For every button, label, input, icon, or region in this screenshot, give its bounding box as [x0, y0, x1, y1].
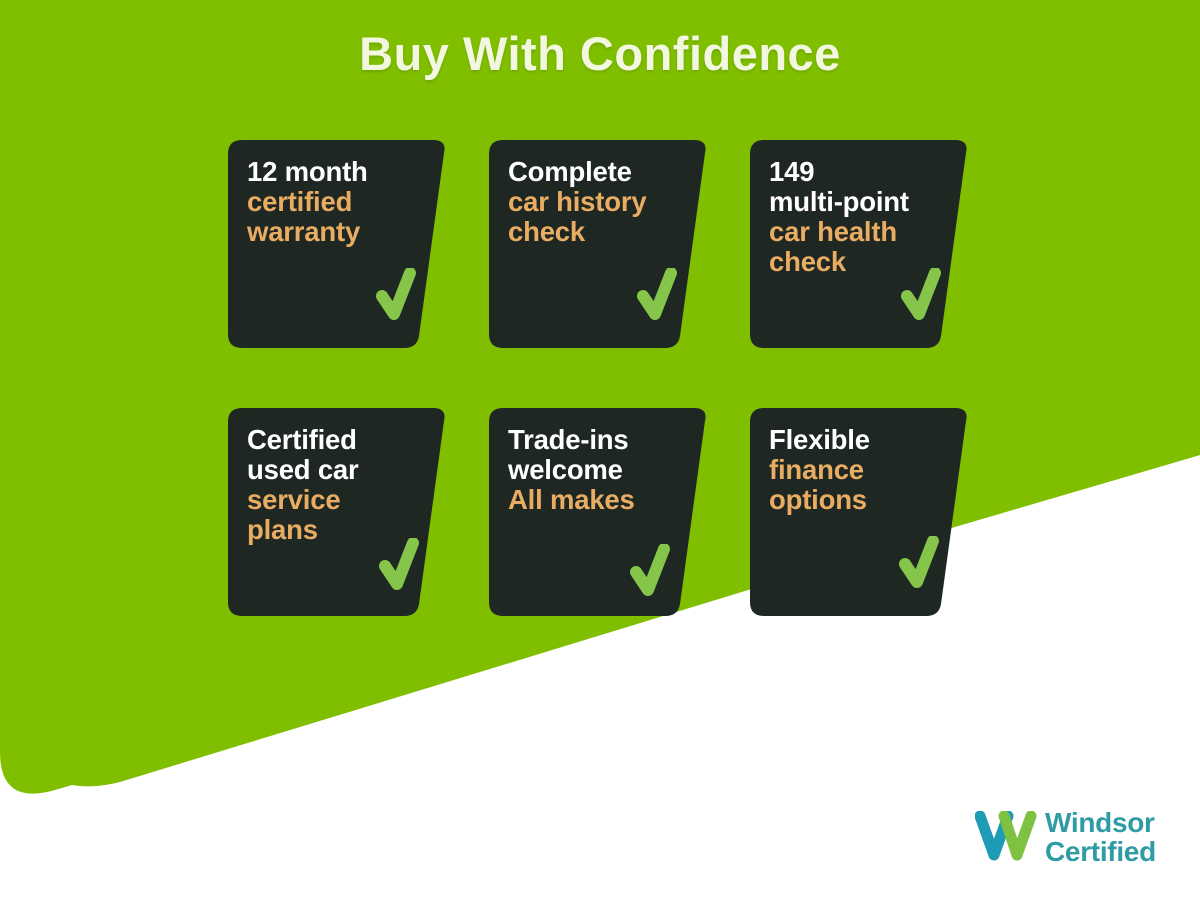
benefit-card-2-text: Complete car history check [508, 157, 673, 247]
check-mark-icon [378, 538, 424, 596]
card-line: warranty [247, 217, 412, 247]
card-line: car health [769, 217, 934, 247]
card-line: Certified [247, 425, 412, 455]
check-mark-icon [636, 268, 682, 326]
card-line: Trade-ins [508, 425, 673, 455]
windsor-w-logo-icon [975, 811, 1037, 863]
card-line: All makes [508, 485, 673, 515]
check-mark-icon [629, 544, 675, 602]
benefit-card-3[interactable]: 149 multi-point car health check [750, 140, 976, 348]
benefit-card-5-text: Trade-ins welcome All makes [508, 425, 673, 515]
benefit-card-5[interactable]: Trade-ins welcome All makes [489, 408, 715, 616]
benefit-card-3-text: 149 multi-point car health check [769, 157, 934, 277]
benefit-card-1[interactable]: 12 month certified warranty [228, 140, 454, 348]
logo-line-2: Certified [1045, 837, 1156, 866]
page-title: Buy With Confidence [0, 26, 1200, 81]
benefit-card-4[interactable]: Certified used car service plans [228, 408, 454, 616]
card-line: 149 [769, 157, 934, 187]
benefit-card-2[interactable]: Complete car history check [489, 140, 715, 348]
check-mark-icon [900, 268, 946, 326]
check-mark-icon [375, 268, 421, 326]
benefit-card-row-bottom: Certified used car service plans [228, 408, 976, 616]
poster-canvas: Buy With Confidence 12 month certified w… [0, 0, 1200, 900]
benefit-card-row-top: 12 month certified warranty [228, 140, 976, 348]
benefit-card-4-text: Certified used car service plans [247, 425, 412, 545]
card-line: car history [508, 187, 673, 217]
benefit-card-6[interactable]: Flexible finance options [750, 408, 976, 616]
card-line: Flexible [769, 425, 934, 455]
benefit-card-1-text: 12 month certified warranty [247, 157, 412, 247]
logo-wordmark: Windsor Certified [1045, 808, 1156, 866]
card-line: used car [247, 455, 412, 485]
card-line: Complete [508, 157, 673, 187]
windsor-certified-logo[interactable]: Windsor Certified [975, 808, 1156, 866]
logo-line-1: Windsor [1045, 808, 1156, 837]
card-line: check [508, 217, 673, 247]
card-line: multi-point [769, 187, 934, 217]
card-line: welcome [508, 455, 673, 485]
card-line: certified [247, 187, 412, 217]
benefit-card-grid: 12 month certified warranty [228, 140, 976, 616]
card-line: service [247, 485, 412, 515]
card-line: options [769, 485, 934, 515]
check-mark-icon [898, 536, 944, 594]
card-line: 12 month [247, 157, 412, 187]
card-line: finance [769, 455, 934, 485]
benefit-card-6-text: Flexible finance options [769, 425, 934, 515]
